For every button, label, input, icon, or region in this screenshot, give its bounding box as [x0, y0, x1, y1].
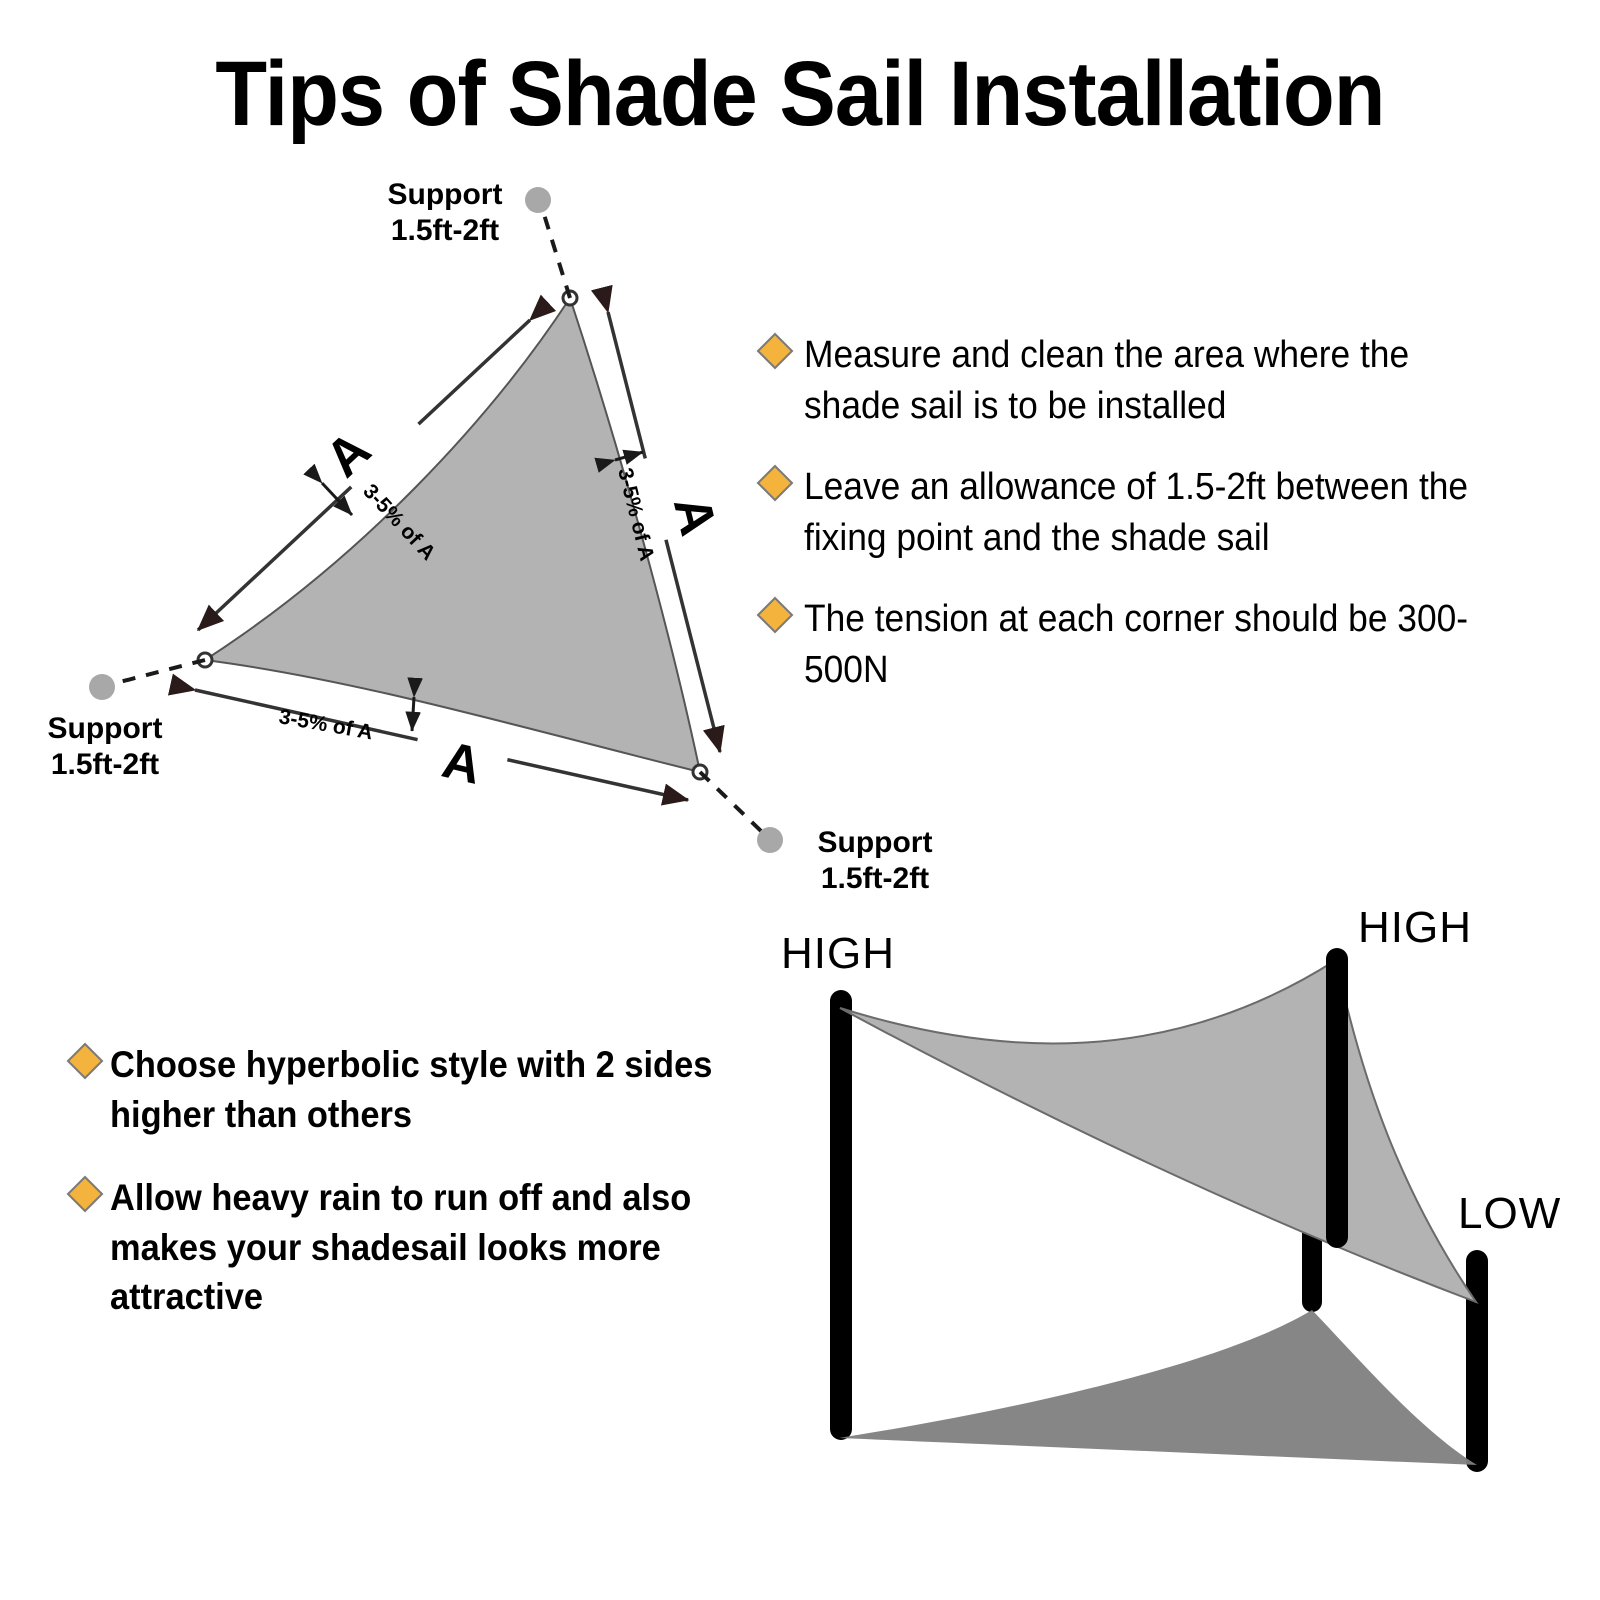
support-dot-left	[89, 674, 115, 700]
support-left-line2: 1.5ft-2ft	[51, 748, 159, 781]
hyperbolic-sail-shape	[840, 960, 1476, 1302]
list-item-text: The tension at each corner should be 300…	[804, 594, 1481, 696]
post-right-high	[1326, 948, 1348, 1248]
sail-ground-shadow	[839, 1310, 1477, 1465]
support-dot-top	[525, 187, 551, 213]
list-item: Allow heavy rain to run off and also mak…	[72, 1173, 792, 1322]
tips-list-left: Choose hyperbolic style with 2 sides hig…	[72, 1040, 792, 1356]
tips-list-right: Measure and clean the area where the sha…	[762, 330, 1532, 725]
list-item: Leave an allowance of 1.5-2ft between th…	[762, 462, 1532, 564]
dashed-line-top	[542, 208, 570, 298]
list-item-text: Leave an allowance of 1.5-2ft between th…	[804, 462, 1481, 564]
label-post-right-high: HIGH	[1358, 903, 1472, 952]
list-item-text: Choose hyperbolic style with 2 sides hig…	[110, 1040, 744, 1139]
diamond-bullet-icon	[67, 1043, 104, 1080]
label-post-left-high: HIGH	[781, 929, 895, 978]
list-item: Choose hyperbolic style with 2 sides hig…	[72, 1040, 792, 1139]
label-side-bottom-sag: 3-5% of A	[277, 705, 374, 744]
label-post-low: LOW	[1458, 1189, 1561, 1238]
dashed-line-left	[112, 660, 205, 684]
hyperbolic-sail-diagram: HIGH HIGH LOW	[740, 890, 1600, 1530]
support-left-line1: Support	[48, 712, 163, 745]
sag-arrow-bottom	[412, 697, 414, 731]
dashed-line-bottom-right	[700, 772, 762, 832]
support-dot-bottom-right	[757, 827, 783, 853]
list-item-text: Allow heavy rain to run off and also mak…	[110, 1173, 744, 1322]
post-left-high	[830, 990, 852, 1440]
diamond-bullet-icon	[757, 333, 794, 370]
triangle-sail-shape	[205, 298, 700, 772]
list-item: Measure and clean the area where the sha…	[762, 330, 1532, 432]
diamond-bullet-icon	[757, 596, 794, 633]
list-item: The tension at each corner should be 300…	[762, 594, 1532, 696]
infographic-page: Tips of Shade Sail Installation	[0, 0, 1600, 1600]
diamond-bullet-icon	[757, 464, 794, 501]
post-low	[1466, 1250, 1488, 1472]
diamond-bullet-icon	[67, 1176, 104, 1213]
support-bottom-right-line1: Support	[818, 826, 933, 859]
support-top-line1: Support	[388, 178, 503, 211]
page-title: Tips of Shade Sail Installation	[64, 48, 1536, 140]
support-top-line2: 1.5ft-2ft	[391, 214, 499, 247]
list-item-text: Measure and clean the area where the sha…	[804, 330, 1481, 432]
